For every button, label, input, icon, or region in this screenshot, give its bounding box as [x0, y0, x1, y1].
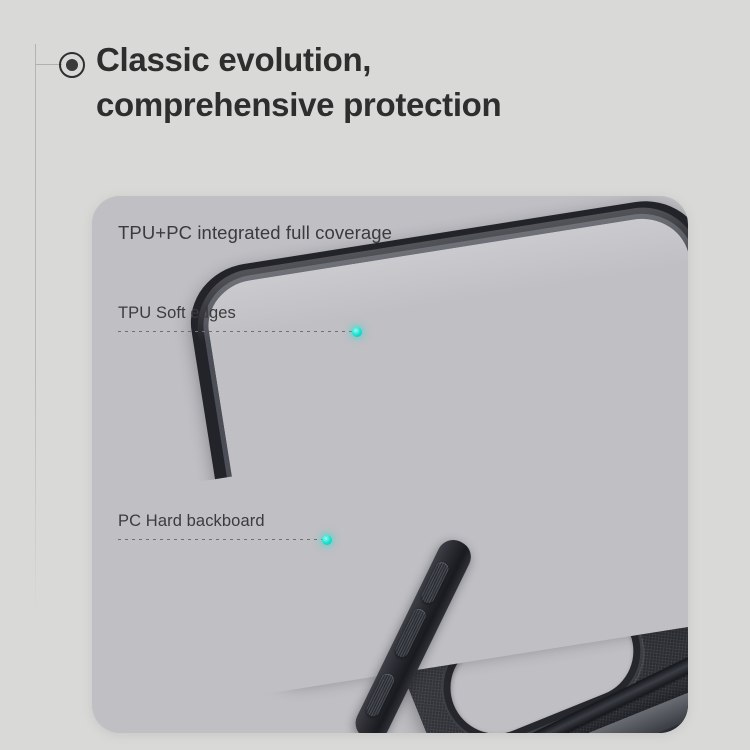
callout-leader-line: [118, 539, 324, 540]
panel-clip: TPU+PC integrated full coverage TPU Soft…: [92, 196, 688, 733]
panel-title: TPU+PC integrated full coverage: [118, 222, 392, 244]
headline-line-1: Classic evolution,: [96, 41, 371, 78]
power-button: [364, 672, 396, 719]
callout-label: TPU Soft edges: [118, 304, 236, 323]
callout-label: PC Hard backboard: [118, 512, 265, 531]
product-illustration: [92, 196, 688, 733]
callout-leader-line: [118, 331, 354, 332]
target-dot-icon: [59, 52, 85, 78]
feature-panel: TPU+PC integrated full coverage TPU Soft…: [92, 196, 688, 733]
headline-line-2: comprehensive protection: [96, 83, 716, 128]
cyan-dot-marker: [322, 535, 332, 545]
case-bumper-frame: [92, 196, 688, 671]
decorative-vertical-rule: [35, 44, 36, 622]
cyan-dot-marker: [352, 327, 362, 337]
product-feature-image: Classic evolution, comprehensive protect…: [0, 0, 750, 750]
page-title: Classic evolution, comprehensive protect…: [96, 38, 716, 128]
